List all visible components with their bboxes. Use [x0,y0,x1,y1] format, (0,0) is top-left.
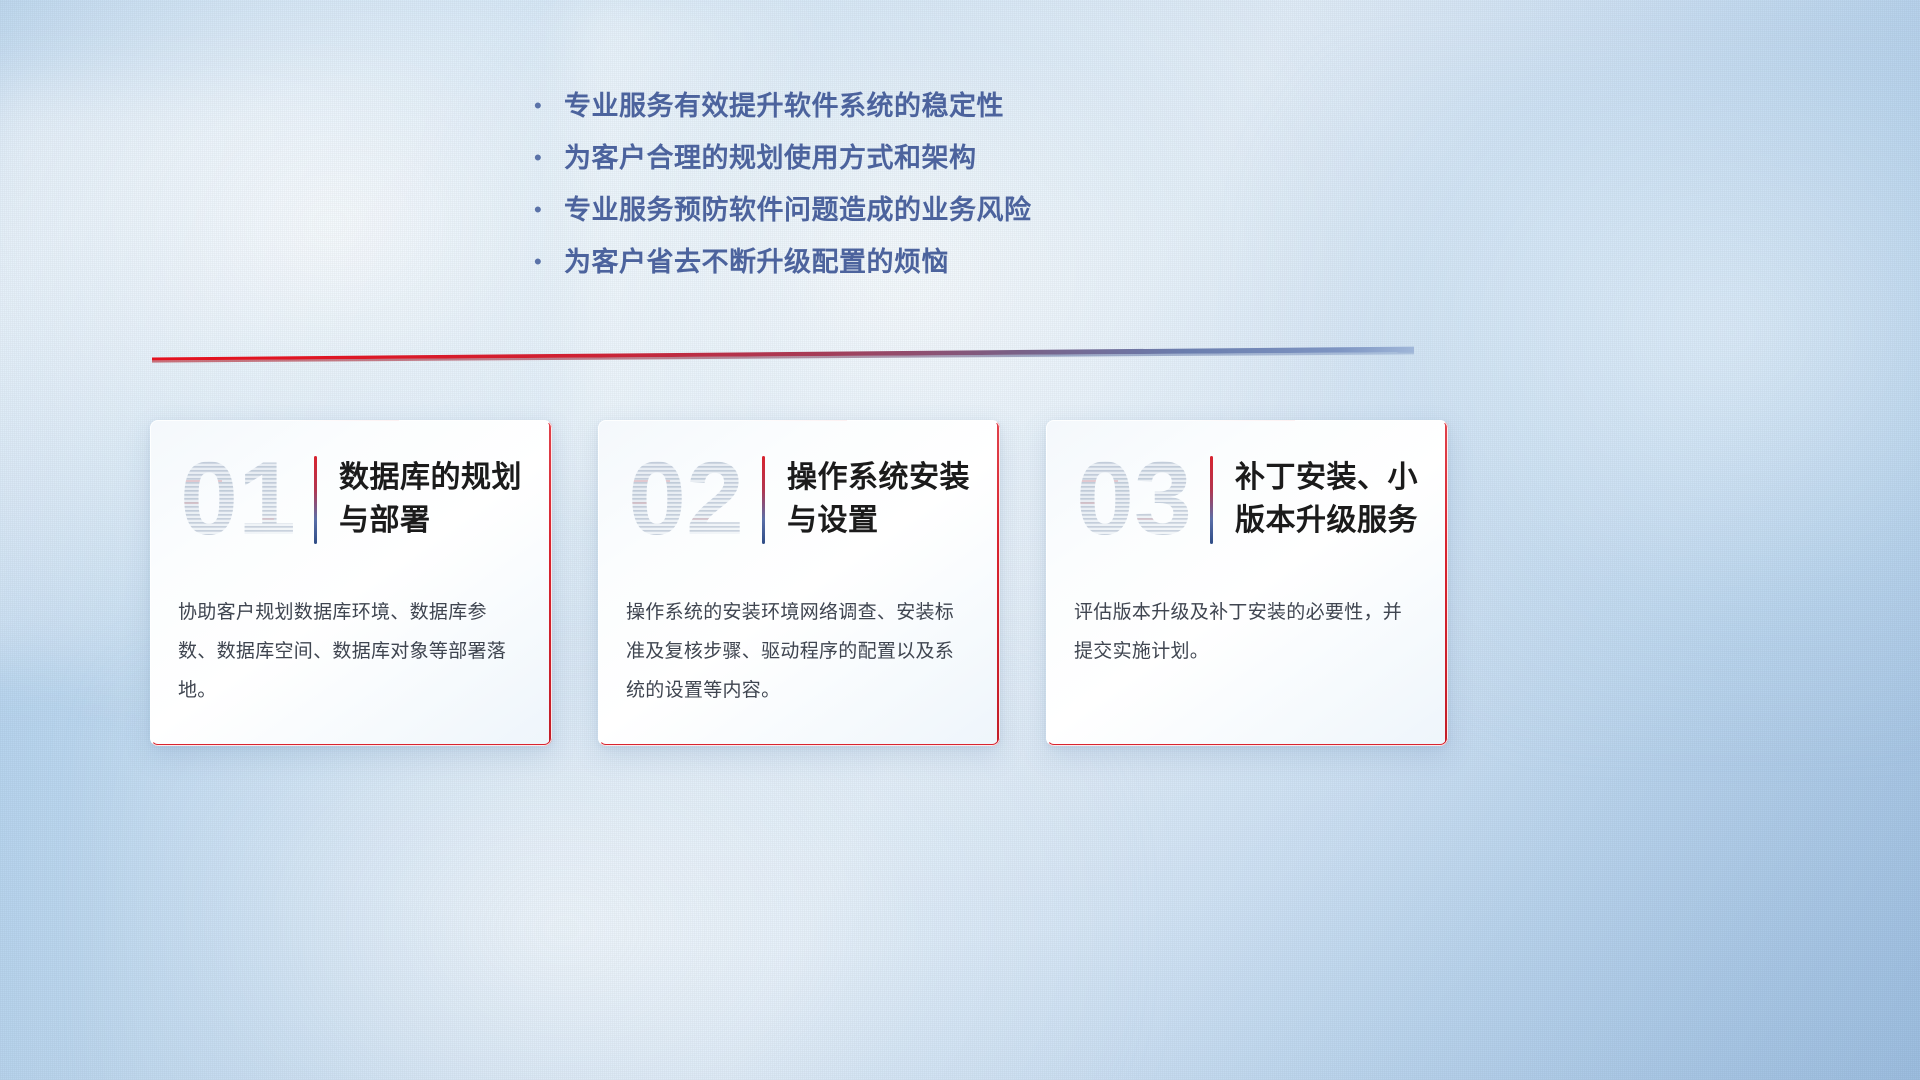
card-number-watermark: 02 [622,446,750,554]
bullet-marker-icon: • [534,95,564,117]
list-item: • 为客户省去不断升级配置的烦恼 [534,246,1434,298]
card-header: 01 数据库的规划与部署 [150,420,552,580]
bullet-marker-icon: • [534,199,564,221]
card-header: 02 操作系统安装与设置 [598,420,1000,580]
card-body-text: 操作系统的安装环境网络调查、安装标准及复核步骤、驱动程序的配置以及系统的设置等内… [598,580,1000,711]
list-item: • 为客户合理的规划使用方式和架构 [534,142,1434,194]
bullet-marker-icon: • [534,147,564,169]
card-title: 数据库的规划与部署 [339,457,552,542]
bullet-label: 专业服务预防软件问题造成的业务风险 [564,194,1032,226]
service-card[interactable]: 03 补丁安装、小版本升级服务 评估版本升级及补丁安装的必要性，并提交实施计划。 [1046,420,1448,746]
card-title: 补丁安装、小版本升级服务 [1235,457,1448,542]
bullet-label: 为客户合理的规划使用方式和架构 [564,142,977,174]
card-header: 03 补丁安装、小版本升级服务 [1046,420,1448,580]
card-number-watermark: 01 [174,446,302,554]
bullet-label: 为客户省去不断升级配置的烦恼 [564,246,949,278]
card-number-watermark: 03 [1070,446,1198,554]
card-body-text: 评估版本升级及补丁安装的必要性，并提交实施计划。 [1046,580,1448,672]
bullet-label: 专业服务有效提升软件系统的稳定性 [564,90,1004,122]
card-title-rule [762,456,765,544]
benefits-bullet-list: • 专业服务有效提升软件系统的稳定性 • 为客户合理的规划使用方式和架构 • 专… [534,90,1434,298]
service-card[interactable]: 02 操作系统安装与设置 操作系统的安装环境网络调查、安装标准及复核步骤、驱动程… [598,420,1000,746]
service-card[interactable]: 01 数据库的规划与部署 协助客户规划数据库环境、数据库参数、数据库空间、数据库… [150,420,552,746]
card-title-rule [1210,456,1213,544]
card-title-rule [314,456,317,544]
section-divider [152,338,1414,372]
list-item: • 专业服务有效提升软件系统的稳定性 [534,90,1434,142]
card-title: 操作系统安装与设置 [787,457,1000,542]
card-body-text: 协助客户规划数据库环境、数据库参数、数据库空间、数据库对象等部署落地。 [150,580,552,711]
bullet-marker-icon: • [534,251,564,273]
tapered-accent-divider-icon [152,346,1414,364]
service-card-grid: 01 数据库的规划与部署 协助客户规划数据库环境、数据库参数、数据库空间、数据库… [150,420,1448,746]
list-item: • 专业服务预防软件问题造成的业务风险 [534,194,1434,246]
